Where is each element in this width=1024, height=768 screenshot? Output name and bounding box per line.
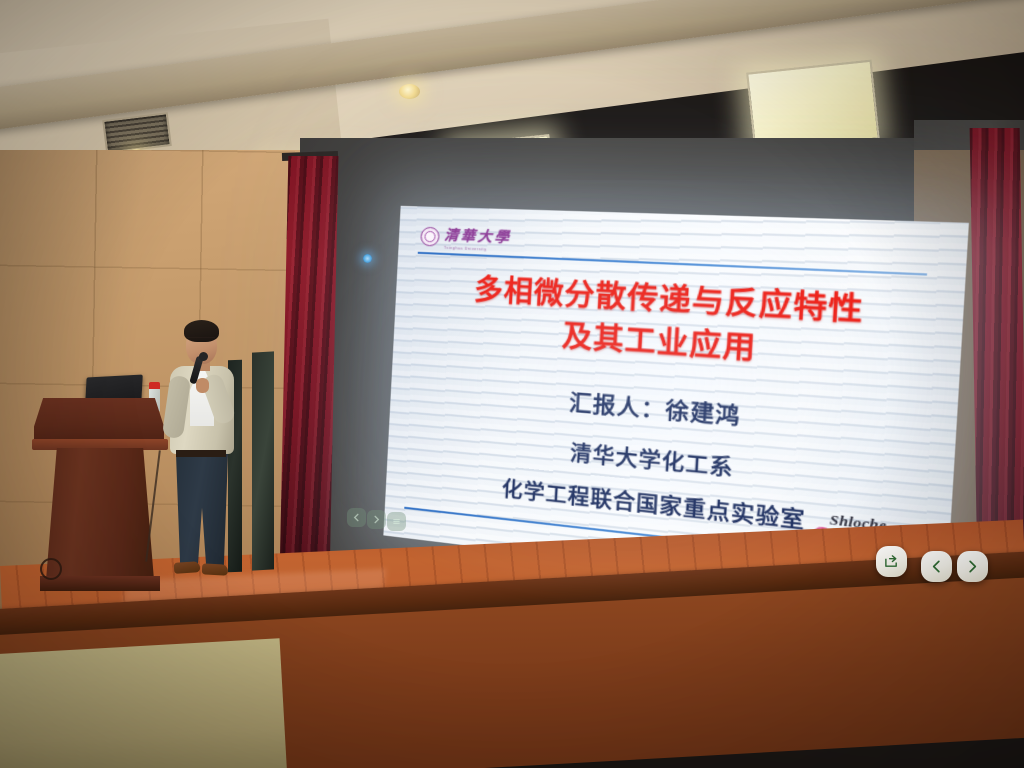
presenter	[160, 318, 244, 586]
chevron-right-icon	[965, 559, 980, 574]
curtain-left	[280, 156, 339, 576]
dim-menu-button[interactable]	[387, 512, 406, 531]
blue-indicator-led-icon	[363, 254, 372, 263]
dim-previous-button[interactable]	[347, 508, 366, 527]
presenter-trousers	[176, 454, 228, 566]
tsinghua-seal-icon	[420, 227, 440, 247]
podium	[34, 398, 164, 594]
university-logo: 清華大學 Tsinghua University	[420, 224, 512, 253]
podium-body	[46, 448, 154, 580]
downlight-3	[399, 84, 420, 99]
presenter-belt	[176, 450, 226, 457]
share-button[interactable]	[876, 546, 907, 577]
share-icon	[884, 554, 899, 569]
glasses-icon	[187, 337, 215, 343]
front-wall-left	[0, 638, 288, 768]
presenter-shoe-left	[174, 561, 201, 574]
university-name: 清華大學	[444, 224, 512, 247]
dim-next-button[interactable]	[367, 510, 386, 529]
leaning-panel-2	[252, 351, 274, 570]
menu-icon	[392, 517, 401, 526]
chevron-left-icon	[929, 559, 944, 574]
previous-button[interactable]	[921, 551, 952, 582]
podium-cable-ring	[40, 558, 62, 580]
presentation-photo: 清華大學 Tsinghua University 多相微分散传递与反应特性 及其…	[0, 0, 1024, 768]
presenter-shoe-right	[202, 563, 229, 575]
slide-title: 多相微分散传递与反应特性 及其工业应用	[393, 266, 964, 384]
microphone-head	[199, 352, 208, 361]
podium-base	[40, 576, 160, 591]
presenter-hand	[196, 378, 209, 393]
chevron-left-icon	[352, 513, 361, 522]
chevron-right-icon	[372, 515, 381, 524]
next-button[interactable]	[957, 551, 988, 582]
podium-top	[34, 398, 164, 444]
water-bottle-cap	[149, 382, 160, 389]
